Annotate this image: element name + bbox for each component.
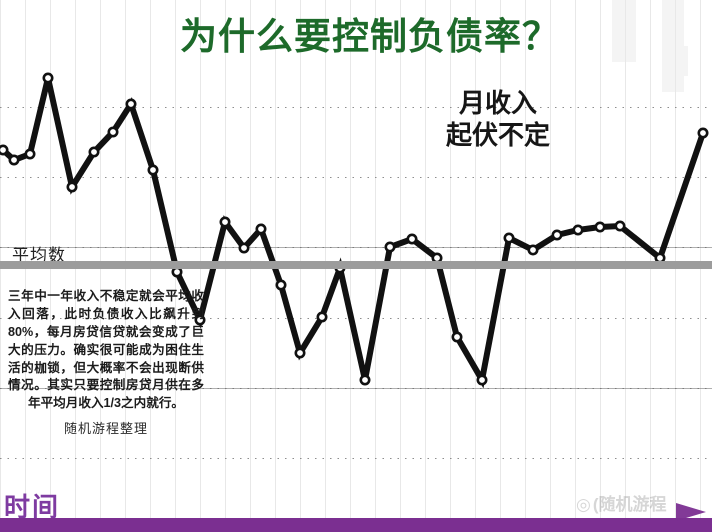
explanation-signature: 随机游程整理 [8, 418, 204, 437]
average-line-band [0, 261, 712, 269]
explanation-body: 三年中一年收入不稳定就会平均收入回落，此时负债收入比飙升到80%，每月房贷信贷就… [8, 288, 204, 413]
x-axis-line [0, 518, 712, 532]
x-axis-arrow-icon [676, 503, 706, 521]
annotation-monthly-income: 月收入 起伏不定 [398, 88, 598, 151]
page-title: 为什么要控制负债率？ [160, 18, 580, 57]
watermark-badge-icon: ◎ [576, 495, 591, 515]
watermark-text: (随机游程 [593, 495, 667, 514]
annotation-line-2: 起伏不定 [398, 120, 598, 152]
chart-screenshot: 为什么要控制负债率？ 月收入 起伏不定 平均数 三年中一年收入不稳定就会平均收入… [0, 0, 712, 532]
watermark: ◎(随机游程 [576, 490, 667, 515]
annotation-line-1: 月收入 [398, 88, 598, 120]
explanation-text-block: 三年中一年收入不稳定就会平均收入回落，此时负债收入比飙升到80%，每月房贷信贷就… [8, 288, 204, 437]
